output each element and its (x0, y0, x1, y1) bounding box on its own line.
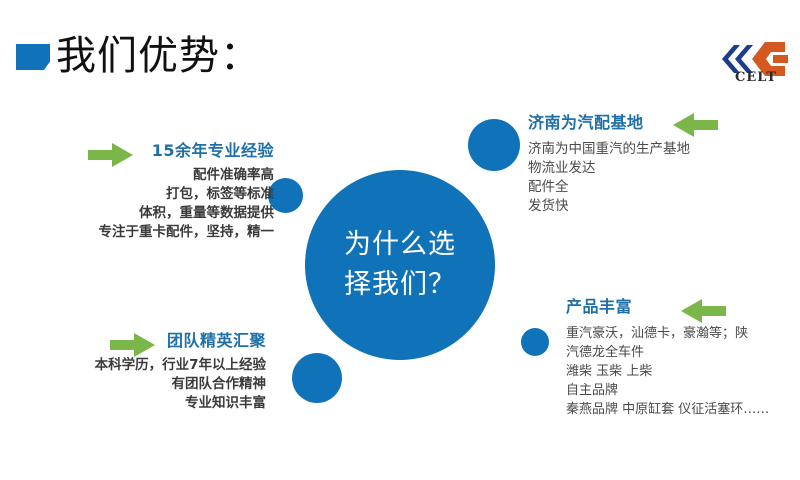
feature-line: 有团队合作精神 (95, 375, 266, 394)
feature-heading-products: 产品丰富 (566, 296, 632, 318)
satellite-circle-team (292, 353, 342, 403)
feature-heading-experience: 15余年专业经验 (152, 140, 274, 162)
arrow-left-icon (672, 112, 718, 138)
feature-body-base: 济南为中国重汽的生产基地 物流业发达 配件全 发货快 (528, 140, 690, 216)
center-circle-text: 为什么选 择我们？ (335, 225, 465, 305)
celt-logo-text: CELT (718, 70, 794, 85)
feature-line: 秦燕品牌 中原缸套 仪征活塞环…… (566, 400, 769, 419)
arrow-left-icon (680, 298, 726, 324)
feature-heading-team: 团队精英汇聚 (167, 330, 266, 352)
feature-line: 专业知识丰富 (95, 394, 266, 413)
page-title: 我们优势： (56, 30, 261, 82)
arrow-right-icon (110, 332, 156, 358)
feature-line: 汽德龙全车件 (566, 343, 769, 362)
center-circle-line-1: 为什么选 (335, 225, 465, 265)
feature-line: 济南为中国重汽的生产基地 (528, 140, 690, 159)
slide-canvas: 我们优势： CELT 为什么选 择我们？ 15余年专业经 (0, 0, 800, 480)
feature-line: 配件准确率高 (99, 166, 275, 185)
feature-line: 自主品牌 (566, 381, 769, 400)
arrow-right-icon (88, 142, 134, 168)
feature-line: 发货快 (528, 197, 690, 216)
feature-line: 重汽豪沃，汕德卡，豪瀚等；陕 (566, 324, 769, 343)
feature-line: 物流业发达 (528, 159, 690, 178)
feature-line: 本科学历，行业7年以上经验 (95, 356, 266, 375)
feature-line: 配件全 (528, 178, 690, 197)
feature-line: 打包，标签等标准 (99, 185, 275, 204)
header-flag-icon (16, 44, 50, 70)
center-circle: 为什么选 择我们？ (305, 170, 495, 360)
satellite-circle-base (468, 119, 520, 171)
feature-body-experience: 配件准确率高 打包，标签等标准 体积，重量等数据提供 专注于重卡配件，坚持，精一 (99, 166, 275, 242)
feature-heading-base: 济南为汽配基地 (528, 112, 644, 134)
feature-line: 体积，重量等数据提供 (99, 204, 275, 223)
feature-body-products: 重汽豪沃，汕德卡，豪瀚等；陕 汽德龙全车件 潍柴 玉柴 上柴 自主品牌 秦燕品牌… (566, 324, 769, 419)
feature-body-team: 本科学历，行业7年以上经验 有团队合作精神 专业知识丰富 (95, 356, 266, 413)
feature-line: 潍柴 玉柴 上柴 (566, 362, 769, 381)
satellite-circle-products (521, 328, 549, 356)
center-circle-line-2: 择我们？ (335, 265, 465, 305)
feature-line: 专注于重卡配件，坚持，精一 (99, 223, 275, 242)
